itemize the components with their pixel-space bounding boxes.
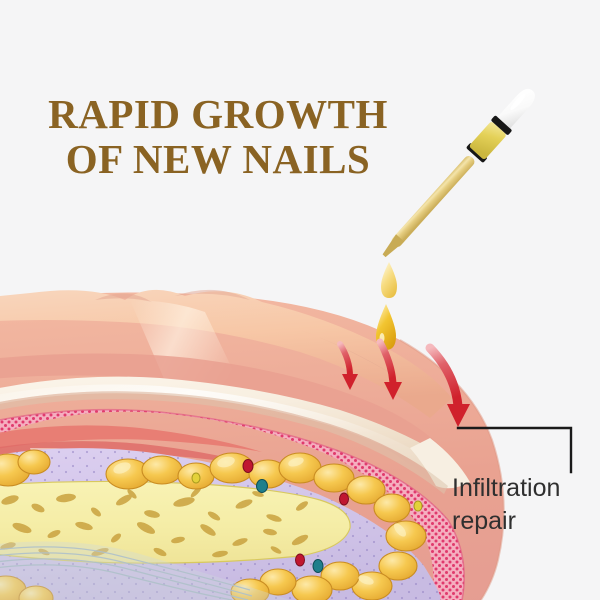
capillary-yellow-1 <box>192 473 200 483</box>
capillary-teal-2 <box>313 560 323 573</box>
capillary-teal-1 <box>257 480 268 493</box>
capillary-red-1 <box>243 460 253 473</box>
headline-line-1: RAPID GROWTH <box>18 92 418 137</box>
capillary-yellow-2 <box>414 501 422 511</box>
headline-line-2: OF NEW NAILS <box>18 137 418 182</box>
callout-line-1: Infiltration <box>452 472 560 505</box>
infographic-canvas: RAPID GROWTH OF NEW NAILS Infiltration r… <box>0 0 600 600</box>
page-title: RAPID GROWTH OF NEW NAILS <box>18 92 418 182</box>
capillary-red-2 <box>340 493 349 505</box>
callout-line-2: repair <box>452 505 560 538</box>
callout-label: Infiltration repair <box>452 472 560 538</box>
capillary-red-3 <box>296 554 305 566</box>
